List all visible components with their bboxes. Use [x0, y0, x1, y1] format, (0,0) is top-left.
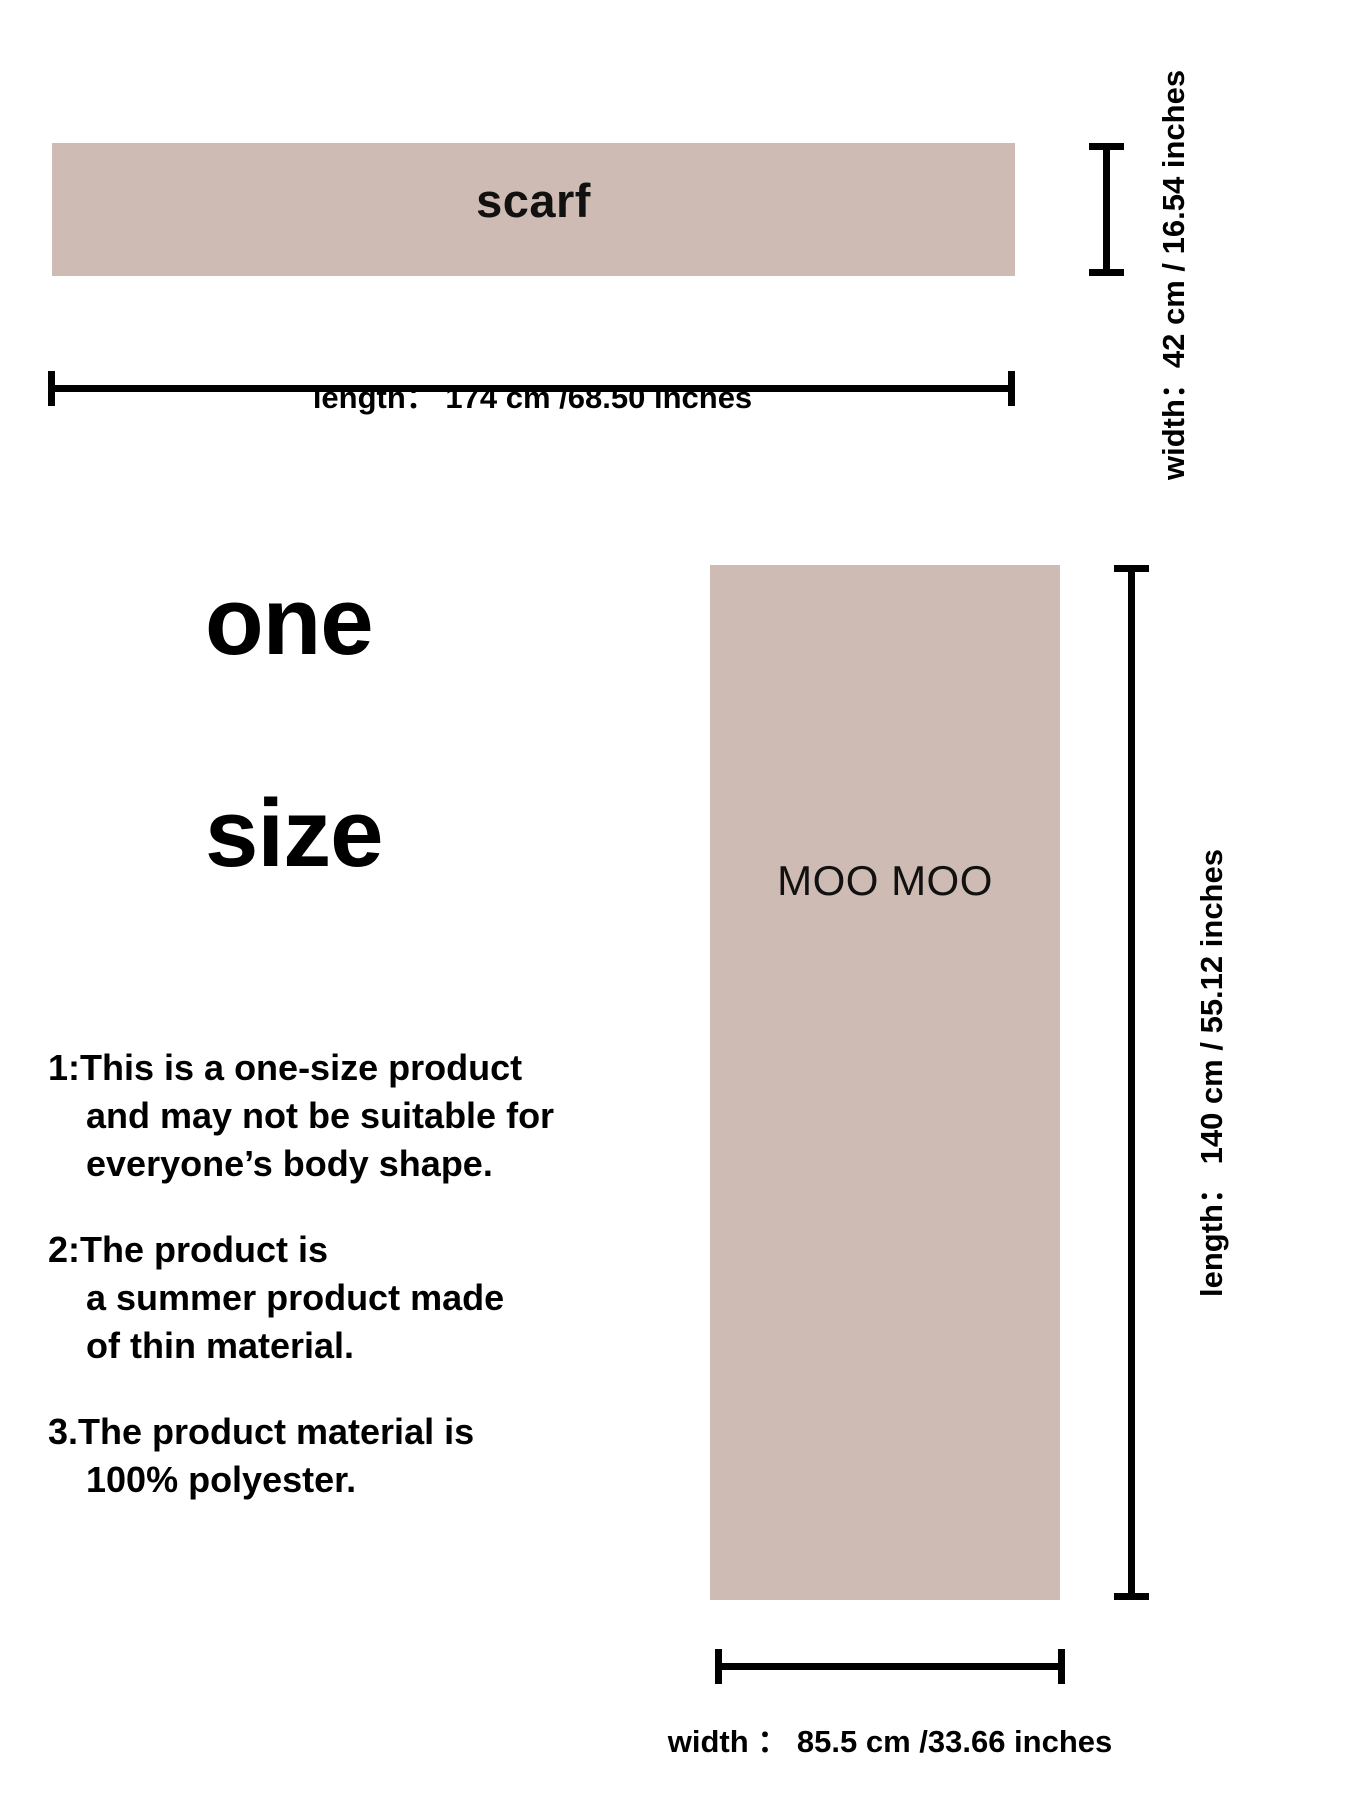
dress-brand-label: MOO MOO [710, 857, 1060, 905]
scarf-width-dimension-line [1103, 143, 1110, 276]
dress-swatch: MOO MOO [710, 565, 1060, 1600]
scarf-length-caption: length： 174 cm /68.50 inches [0, 372, 1065, 417]
headline-line-one: one [205, 516, 625, 728]
note-1-line-2: and may not be suitable for [48, 1092, 648, 1140]
note-3-line-1: 3.The product material is [48, 1408, 648, 1456]
note-item-3: 3.The product material is 100% polyester… [48, 1408, 648, 1504]
notes-list: 1:This is a one-size product and may not… [48, 1044, 648, 1542]
note-3-line-2: 100% polyester. [48, 1456, 648, 1504]
scarf-swatch: scarf [52, 143, 1015, 276]
note-1-line-3: everyone’s body shape. [48, 1140, 648, 1188]
dress-length-caption: length： 140 cm / 55.12 inches [1186, 849, 1231, 1297]
scarf-width-caption: width：42 cm / 16.54 inches [1148, 70, 1193, 480]
size-chart-page: scarf width：42 cm / 16.54 inches length：… [0, 0, 1350, 1800]
note-1-line-1: 1:This is a one-size product [48, 1044, 648, 1092]
one-size-headline: one size [205, 516, 625, 940]
dress-width-dimension-line [715, 1663, 1065, 1670]
note-item-2: 2:The product is a summer product made o… [48, 1226, 648, 1370]
headline-line-size: size [205, 728, 625, 940]
note-2-line-1: 2:The product is [48, 1226, 648, 1274]
note-2-line-3: of thin material. [48, 1322, 648, 1370]
dress-length-dimension-line [1128, 565, 1135, 1600]
note-item-1: 1:This is a one-size product and may not… [48, 1044, 648, 1188]
dress-width-caption: width ： 85.5 cm /33.66 inches [480, 1716, 1300, 1761]
scarf-label: scarf [52, 173, 1015, 228]
note-2-line-2: a summer product made [48, 1274, 648, 1322]
